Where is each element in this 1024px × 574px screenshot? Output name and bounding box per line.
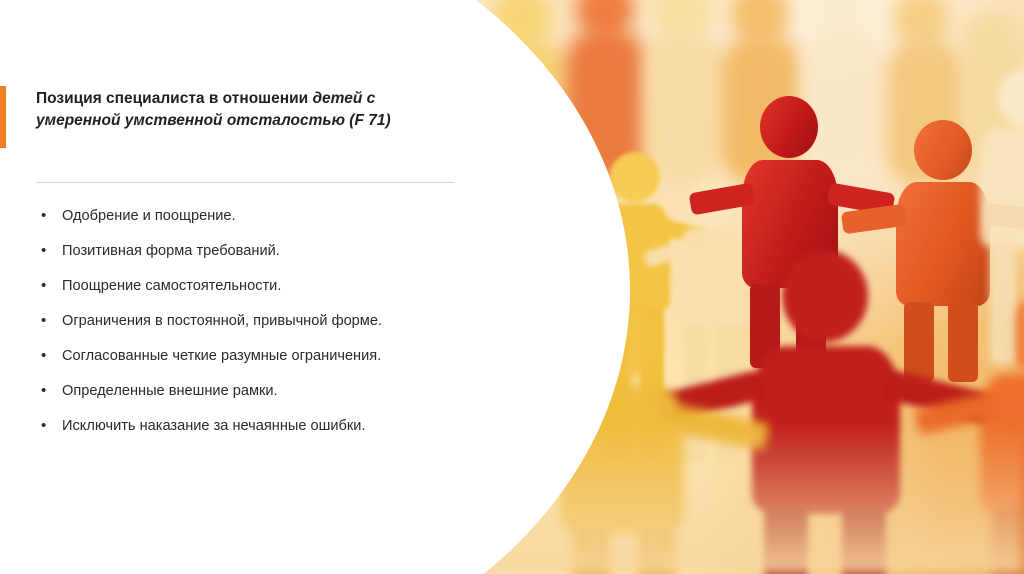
title-part-emphasis-1: детей с xyxy=(312,90,375,107)
list-item: Исключить наказание за нечаянные ошибки. xyxy=(36,418,496,436)
title-part-emphasis-2: умеренной умственной отсталостью (F 71) xyxy=(36,112,391,129)
accent-bar xyxy=(0,86,6,148)
list-item: Определенные внешние рамки. xyxy=(36,383,496,401)
list-item: Ограничения в постоянной, привычной форм… xyxy=(36,313,496,331)
slide-content: Позиция специалиста в отношении детей с … xyxy=(0,0,520,574)
title-divider xyxy=(36,182,454,183)
page-title: Позиция специалиста в отношении детей с … xyxy=(36,88,466,132)
list-item: Поощрение самостоятельности. xyxy=(36,278,496,296)
bullet-list: Одобрение и поощрение. Позитивная форма … xyxy=(36,208,496,453)
list-item: Позитивная форма требований. xyxy=(36,243,496,261)
slide: Позиция специалиста в отношении детей с … xyxy=(0,0,1024,574)
list-item: Одобрение и поощрение. xyxy=(36,208,496,226)
list-item: Согласованные четкие разумные ограничени… xyxy=(36,348,496,366)
paper-figure-cream-right xyxy=(960,70,1024,370)
title-part-plain: Позиция специалиста в отношении xyxy=(36,90,312,107)
